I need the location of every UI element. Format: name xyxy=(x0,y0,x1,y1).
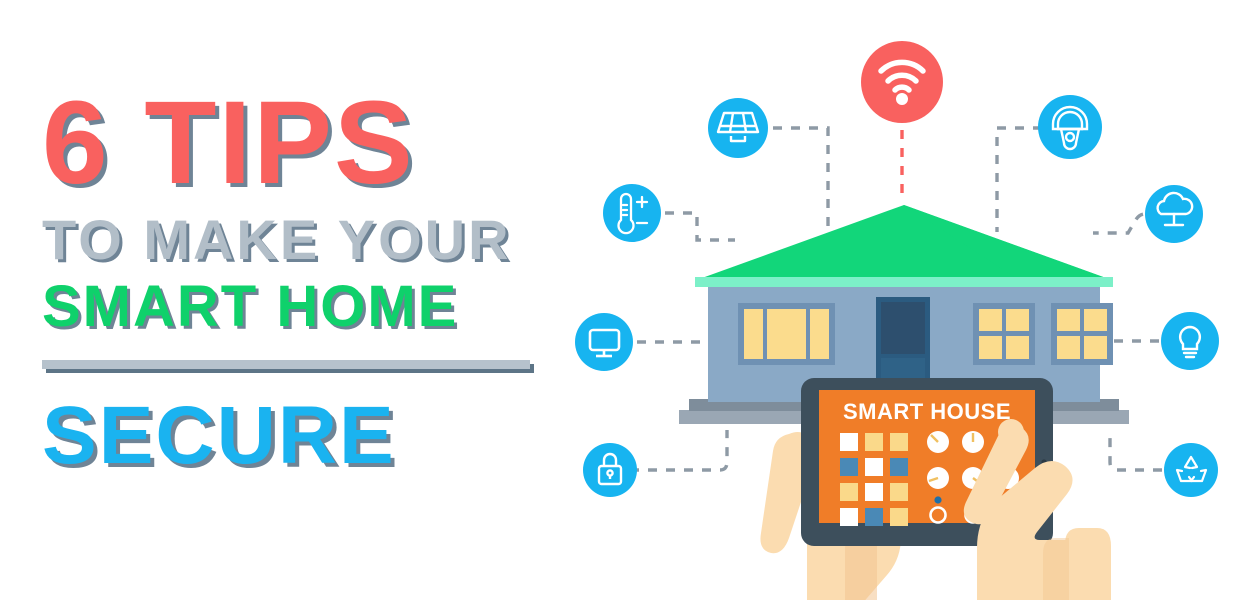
window-left xyxy=(738,303,835,365)
app-cell xyxy=(840,458,858,476)
node-solar-panel[interactable] xyxy=(708,98,768,158)
headline-line-1: 6 TIPS xyxy=(42,84,542,202)
connector-security-camera xyxy=(997,128,1042,232)
node-recycling[interactable] xyxy=(1164,443,1218,497)
headline-divider xyxy=(42,360,530,369)
window-middle xyxy=(973,303,1035,365)
window-right xyxy=(1051,303,1113,365)
headline-line-4: SECURE xyxy=(42,395,542,477)
wifi-dot xyxy=(896,93,908,105)
connector-thermostat xyxy=(665,213,735,240)
app-cell xyxy=(865,433,883,451)
connector-solar-panel xyxy=(773,128,828,233)
headline-block: 6 TIPS TO MAKE YOUR SMART HOME SECURE xyxy=(42,84,542,477)
node-security-camera[interactable] xyxy=(1038,95,1102,159)
dial xyxy=(927,431,949,453)
app-cell xyxy=(890,483,908,501)
smart-home-illustration: SMART HOUSE xyxy=(545,0,1260,600)
app-cell xyxy=(840,433,858,451)
app-cell xyxy=(865,508,883,526)
wifi-badge xyxy=(861,41,943,123)
connector-lock xyxy=(630,430,727,470)
node-wifi[interactable] xyxy=(861,41,943,123)
house-roof-trim xyxy=(695,277,1113,287)
indicator-dot xyxy=(934,496,941,503)
right-hand-wrist xyxy=(1065,528,1111,600)
poster-canvas: 6 TIPS TO MAKE YOUR SMART HOME SECURE xyxy=(0,0,1260,600)
monitor-badge xyxy=(575,313,633,371)
node-thermostat[interactable] xyxy=(603,184,661,242)
right-hand-shade xyxy=(1043,538,1069,600)
node-cloud[interactable] xyxy=(1145,185,1203,243)
app-cell xyxy=(865,483,883,501)
lightbulb-badge xyxy=(1161,312,1219,370)
node-lock[interactable] xyxy=(583,443,637,497)
app-cell xyxy=(840,508,858,526)
app-cell xyxy=(890,433,908,451)
solar-panel-badge xyxy=(708,98,768,158)
right-fingertip xyxy=(998,419,1024,445)
node-monitor[interactable] xyxy=(575,313,633,371)
app-cell xyxy=(890,458,908,476)
tablet-screen-title: SMART HOUSE xyxy=(843,399,1011,424)
headline-line-2: TO MAKE YOUR xyxy=(42,212,542,268)
node-lightbulb[interactable] xyxy=(1161,312,1219,370)
app-cell xyxy=(890,508,908,526)
headline-line-3: SMART HOME xyxy=(42,278,542,336)
dial xyxy=(962,431,984,453)
recycling-badge xyxy=(1164,443,1218,497)
app-cell xyxy=(865,458,883,476)
app-cell xyxy=(840,483,858,501)
dial xyxy=(927,467,949,489)
